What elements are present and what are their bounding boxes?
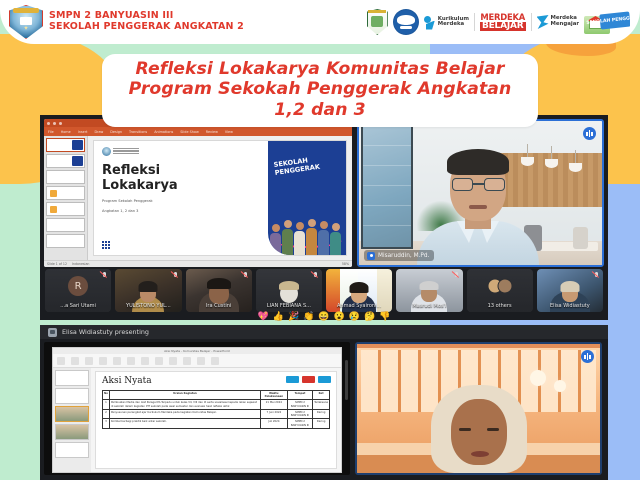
aksi-nyata-table: No Uraian Kegiatan Waktu Pelaksanaan Tem…	[102, 390, 330, 429]
table-row: 3 Kombel berbagi praktik baik antar seko…	[103, 419, 330, 428]
speaker-name: Misaruddin, M.Pd.	[378, 253, 429, 259]
powerpoint-ribbon[interactable]: File Home Insert Draw Design Transitions…	[44, 127, 352, 136]
current-slide-2: Aksi Nyata No Uraian Kegiatan Waktu Pela…	[95, 371, 337, 469]
header-bar: SMPN 2 BANYUASIN III SEKOLAH PENGGERAK A…	[0, 0, 640, 44]
table-header-cell: Tempat	[287, 391, 312, 400]
slide-zoom-level: 58%	[342, 262, 349, 266]
reaction-thumbs-down[interactable]: 👎	[379, 312, 390, 321]
powerpoint-body: Refleksi Lokakarya Program Sekolah Pengg…	[44, 136, 352, 260]
ribbon-tab-transitions[interactable]: Transitions	[129, 130, 147, 134]
school-crest-icon	[9, 5, 43, 39]
slide-thumbnail[interactable]	[55, 442, 89, 458]
slide-thumbnail[interactable]	[46, 234, 85, 248]
ribbon-tab-home[interactable]: Home	[61, 130, 71, 134]
table-cell: Daring	[313, 409, 330, 418]
shared-screen-powerpoint-2[interactable]: Aksi Nyata - Komunitas Belajar - PowerPo…	[44, 342, 350, 475]
camera-person	[431, 385, 527, 473]
reaction-sad[interactable]: 😢	[349, 312, 360, 321]
meeting-window-bottom: Elisa Widiastuty presenting Aksi Nyata -…	[40, 325, 608, 480]
participant-name: Ahmad Syaironi...	[326, 303, 392, 309]
participant-name: LIAN FEBIANA S...	[256, 303, 322, 309]
ribbon-tab-draw[interactable]: Draw	[94, 130, 103, 134]
table-cell: 7 Juni 2024	[260, 409, 287, 418]
ribbon-tab-slideshow[interactable]: Slide Show	[180, 130, 199, 134]
school-title-block: SMPN 2 BANYUASIN III SEKOLAH PENGGERAK A…	[49, 11, 244, 32]
participant-name: Elisa Widiastuty	[537, 303, 603, 309]
table-cell: 2	[103, 409, 110, 418]
current-slide: Refleksi Lokakarya Program Sekolah Pengg…	[93, 140, 347, 256]
slide-institution-badge	[102, 147, 264, 156]
table-header-cell: No	[103, 391, 110, 400]
slide-canvas-2[interactable]: Aksi Nyata No Uraian Kegiatan Waktu Pela…	[91, 368, 341, 472]
slide-thumbnail[interactable]	[55, 424, 89, 440]
reaction-laugh[interactable]: 😄	[318, 312, 329, 321]
table-cell: 3	[103, 419, 110, 428]
ribbon-tab-design[interactable]: Design	[110, 130, 122, 134]
reaction-thumbs-up[interactable]: 👍	[273, 312, 284, 321]
powerpoint-app-2: Aksi Nyata - Komunitas Belajar - PowerPo…	[52, 347, 342, 473]
participant-name: ...a Sari Utami	[45, 303, 111, 309]
meeting-stage-bottom: Aksi Nyata - Komunitas Belajar - PowerPo…	[40, 339, 608, 480]
reaction-thinking[interactable]: 🤔	[364, 312, 375, 321]
ribbon-tab-insert[interactable]: Insert	[78, 130, 88, 134]
sekolah-penggerak-logo-icon: SEKOLAH PENGGERAK	[584, 10, 630, 34]
slide-thumbnail[interactable]	[46, 186, 85, 200]
slide-thumbnail[interactable]	[46, 170, 85, 184]
page-title-line1: Refleksi Lokakarya Komunitas Belajar	[116, 59, 524, 79]
participant-tile[interactable]: R ...a Sari Utami	[45, 269, 111, 312]
reaction-heart[interactable]: 💖	[258, 312, 269, 321]
powerpoint-app: Refleksi Lokakarya - PowerPoint File Hom…	[44, 119, 352, 267]
avatar: R	[68, 276, 88, 296]
mic-muted-icon	[312, 272, 319, 280]
slide-thumbnail[interactable]	[55, 370, 89, 386]
logo-divider-2	[531, 13, 532, 31]
participant-tile[interactable]: Ira Custini	[186, 269, 252, 312]
kurikulum-merdeka-line2: Merdeka	[438, 22, 469, 28]
participant-tile[interactable]: YULISTONO YUL...	[115, 269, 181, 312]
table-cell: Kombel berbagi praktik baik antar sekola…	[109, 419, 260, 428]
participant-name: Ira Custini	[186, 303, 252, 309]
table-header-cell: Ket	[313, 391, 330, 400]
reaction-surprised[interactable]: 😮	[334, 312, 345, 321]
table-cell: 1	[103, 400, 110, 409]
mic-muted-icon	[172, 272, 179, 280]
table-cell: Terlaksana	[313, 400, 330, 409]
powerpoint-title-text-2: Aksi Nyata - Komunitas Belajar - PowerPo…	[164, 349, 230, 353]
school-program: SEKOLAH PENGGERAK ANGKATAN 2	[49, 22, 244, 33]
poster-stage: SMPN 2 BANYUASIN III SEKOLAH PENGGERAK A…	[0, 0, 640, 480]
presenting-status-bar: Elisa Widiastuty presenting	[40, 325, 608, 339]
ribbon-tab-animations[interactable]: Animations	[154, 130, 173, 134]
table-cell: SMPN 2 BANYUASIN III	[287, 400, 312, 409]
camera-tile-bottom[interactable]	[355, 342, 602, 475]
participant-tile[interactable]: Ahmad Syaironi...	[326, 269, 392, 312]
scrollbar[interactable]	[345, 360, 348, 400]
participant-name: 13 others	[467, 303, 533, 309]
slide-subtitle-line2: Angkatan 1, 2 dan 3	[102, 209, 264, 214]
audio-active-icon	[583, 127, 596, 140]
slide-canvas[interactable]: Refleksi Lokakarya Program Sekolah Pengg…	[88, 136, 352, 260]
participant-tile[interactable]: Masrudi Mos'i	[396, 269, 462, 312]
powerpoint-body-2: Aksi Nyata No Uraian Kegiatan Waktu Pela…	[53, 368, 341, 472]
slide-thumbnail[interactable]	[55, 388, 89, 404]
reaction-bar[interactable]: 💖 👍 🎉 👏 😄 😮 😢 🤔 👎	[40, 314, 608, 320]
logo-divider	[474, 13, 475, 31]
tut-wuri-handayani-logo-icon	[393, 9, 419, 35]
table-cell: Pembuatan Media dan Alat Peraga IPA Terp…	[109, 400, 260, 409]
participant-name: YULISTONO YUL...	[115, 303, 181, 309]
slide-logo-row	[286, 376, 331, 383]
table-cell: 21 Mei 2024	[260, 400, 287, 409]
page-title: Refleksi Lokakarya Komunitas Belajar Pro…	[102, 54, 538, 127]
pinned-icon	[367, 252, 375, 260]
table-cell: Penyusunan perangkat ajar Kurikulum Merd…	[109, 409, 260, 418]
screen-share-icon	[48, 328, 57, 337]
merdeka-mengajar-logo-icon: Merdeka Mengajar	[537, 15, 580, 29]
participant-tile[interactable]: LIAN FEBIANA S...	[256, 269, 322, 312]
participant-filmstrip[interactable]: R ...a Sari Utami YULISTONO YUL... Ira C…	[40, 267, 608, 314]
table-header-cell: Waktu Pelaksanaan	[260, 391, 287, 400]
slide-thumbnail[interactable]	[46, 138, 85, 152]
slide-thumbnail-panel[interactable]	[44, 136, 88, 260]
ribbon-tab-file[interactable]: File	[48, 130, 54, 134]
slide-thumbnail[interactable]	[55, 406, 89, 422]
slide-illustration-panel: SEKOLAH PENGGERAK	[268, 141, 346, 255]
active-speaker-tile[interactable]: Misaruddin, M.Pd.	[357, 119, 604, 267]
slide-heading-line1: Refleksi	[102, 164, 264, 179]
slide-badge-text: SEKOLAH PENGGERAK	[273, 152, 346, 177]
others-avatar-group	[487, 279, 512, 294]
table-header-cell: Uraian Kegiatan	[109, 391, 260, 400]
slide-thumbnail-panel-2[interactable]	[53, 368, 91, 472]
page-title-line2: Program Sekokah Penggerak Angkatan 1,2 d…	[116, 79, 524, 120]
participant-tile-others[interactable]: 13 others	[467, 269, 533, 312]
slide-subtitle-line1: Program Sekolah Penggerak	[102, 199, 264, 204]
slide-counter: Slide 1 of 12	[47, 262, 67, 266]
slide-thumbnail[interactable]	[46, 202, 85, 216]
table-row: 1 Pembuatan Media dan Alat Peraga IPA Te…	[103, 400, 330, 409]
ribbon-tab-review[interactable]: Review	[206, 130, 218, 134]
merdeka-belajar-line2: BELAJAR	[480, 22, 526, 31]
slide-students-illustration	[270, 217, 346, 255]
merdeka-belajar-logo-icon: MERDEKA BELAJAR	[480, 13, 526, 30]
table-cell: Daring	[313, 419, 330, 428]
mic-muted-icon	[593, 272, 600, 280]
slide-thumbnail[interactable]	[46, 154, 85, 168]
kurikulum-merdeka-logo-icon: Kurikulum Merdeka	[424, 15, 469, 30]
shared-screen-powerpoint[interactable]: Refleksi Lokakarya - PowerPoint File Hom…	[44, 119, 352, 267]
table-cell: SMPN 2 BANYUASIN III	[287, 419, 312, 428]
reaction-party[interactable]: 🎉	[288, 312, 299, 321]
merdeka-mengajar-line2: Mengajar	[551, 22, 580, 28]
reaction-clap[interactable]: 👏	[303, 312, 314, 321]
slide-dots-decoration	[102, 241, 110, 249]
table-row: 2 Penyusunan perangkat ajar Kurikulum Me…	[103, 409, 330, 418]
presenting-label: Elisa Widiastuty presenting	[62, 328, 149, 336]
mic-muted-icon	[242, 272, 249, 280]
powerpoint-ribbon-2[interactable]	[53, 354, 341, 368]
kabupaten-banyuasin-logo-icon	[367, 9, 388, 35]
powerpoint-statusbar: Slide 1 of 12 Indonesian 58%	[44, 260, 352, 267]
table-header-row: No Uraian Kegiatan Waktu Pelaksanaan Tem…	[103, 391, 330, 400]
header-school-identity: SMPN 2 BANYUASIN III SEKOLAH PENGGERAK A…	[0, 5, 244, 39]
table-cell: Juli 2024	[260, 419, 287, 428]
mic-muted-icon	[101, 272, 108, 280]
speaker-name-chip: Misaruddin, M.Pd.	[364, 250, 434, 261]
slide-heading-line2: Lokakarya	[102, 179, 264, 194]
speaker-person	[417, 141, 539, 265]
audio-active-icon	[581, 350, 594, 363]
meeting-stage-top: Refleksi Lokakarya - PowerPoint File Hom…	[40, 115, 608, 267]
ribbon-tab-view[interactable]: View	[225, 130, 233, 134]
slide-thumbnail[interactable]	[46, 218, 85, 232]
table-cell: SMPN 2 BANYUASIN III	[287, 409, 312, 418]
meeting-window-top: Refleksi Lokakarya - PowerPoint File Hom…	[40, 115, 608, 320]
header-logo-row: Kurikulum Merdeka MERDEKA BELAJAR Merdek…	[367, 9, 640, 35]
mic-muted-icon	[453, 272, 460, 280]
participant-name: Masrudi Mos'i	[396, 303, 462, 309]
participant-tile[interactable]: Elisa Widiastuty	[537, 269, 603, 312]
slide-language: Indonesian	[72, 262, 89, 266]
